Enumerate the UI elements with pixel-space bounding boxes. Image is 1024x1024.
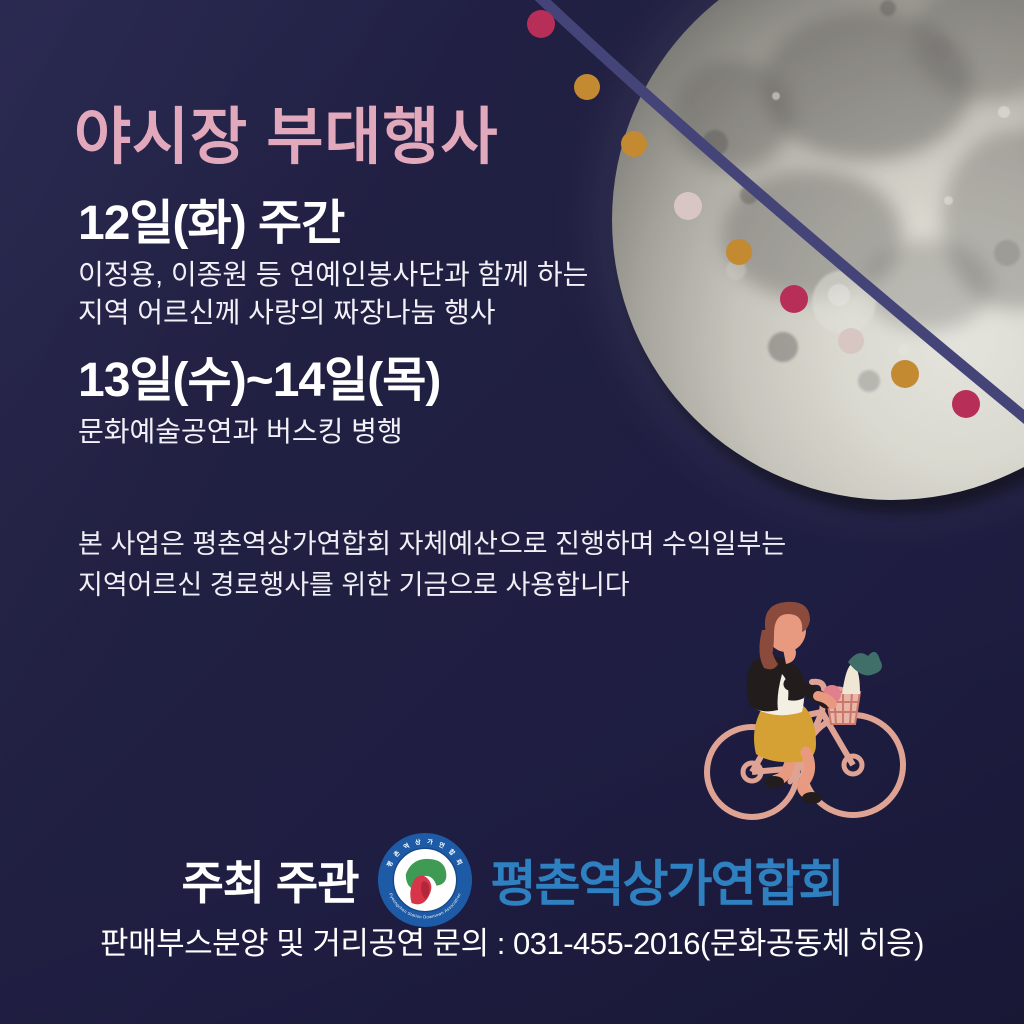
garland-dot (674, 192, 702, 220)
bicycle-rider-illustration (690, 600, 920, 830)
contact-line: 판매부스분양 및 거리공연 문의 : 031-455-2016(문화공동체 히응… (0, 918, 1024, 963)
garland-dot (780, 285, 808, 313)
garland-dot (621, 131, 647, 157)
schedule-desc-1-line1: 이정용, 이종원 등 연예인봉사단과 함께 하는 (78, 256, 588, 295)
garland-dot (726, 239, 752, 265)
budget-note-line2: 지역어르신 경로행사를 위한 기금으로 사용합니다 (78, 565, 786, 606)
schedule-desc-1-line2: 지역 어르신께 사랑의 짜장나눔 행사 (78, 294, 588, 333)
garland-dot (527, 10, 555, 38)
garland-dot (574, 74, 600, 100)
garland-dot (838, 328, 864, 354)
organization-name: 평촌역상가연합회 (491, 844, 843, 916)
budget-note: 본 사업은 평촌역상가연합회 자체예산으로 진행하며 수익일부는 지역어르신 경… (78, 524, 786, 606)
host-label: 주최 주관 (181, 847, 358, 913)
budget-note-line1: 본 사업은 평촌역상가연합회 자체예산으로 진행하며 수익일부는 (78, 524, 786, 565)
event-poster: 야시장 부대행사 12일(화) 주간 이정용, 이종원 등 연예인봉사단과 함께… (0, 0, 1024, 1024)
host-row: 주최 주관 평 촌 역 상 가 연 합 회 Pyeongchon Station… (0, 832, 1024, 928)
association-logo: 평 촌 역 상 가 연 합 회 Pyeongchon Station Downt… (377, 832, 473, 928)
bicycle-basket (823, 652, 882, 724)
schedule-block-2: 13일(수)~14일(목) 문화예술공연과 버스킹 병행 (78, 355, 440, 451)
schedule-block-1: 12일(화) 주간 이정용, 이종원 등 연예인봉사단과 함께 하는 지역 어르… (78, 198, 588, 333)
garland-dot (952, 390, 980, 418)
garland-dot (891, 360, 919, 388)
schedule-date-1: 12일(화) 주간 (78, 198, 588, 250)
schedule-desc-2-line1: 문화예술공연과 버스킹 병행 (78, 413, 440, 452)
page-title: 야시장 부대행사 (74, 86, 499, 176)
schedule-date-2: 13일(수)~14일(목) (78, 355, 440, 407)
